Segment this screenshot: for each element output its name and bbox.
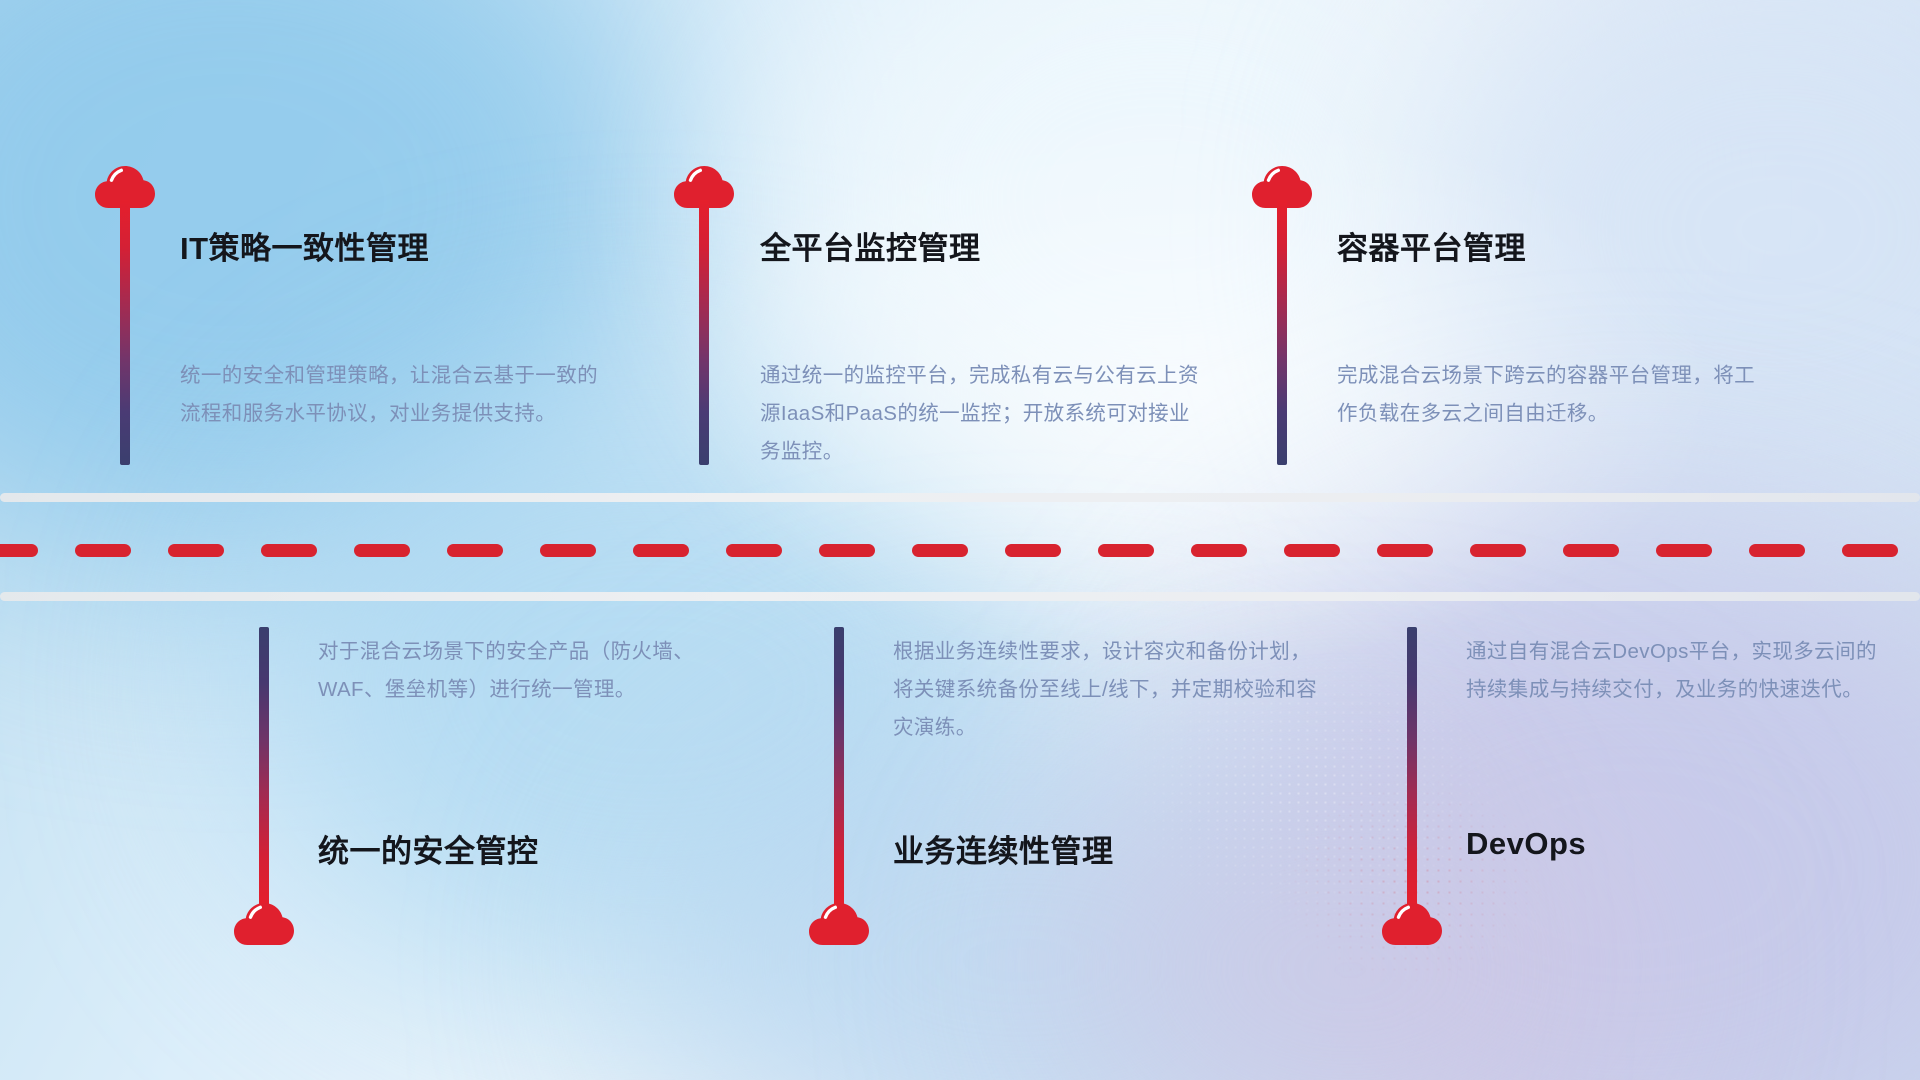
bottom-column-title: 业务连续性管理 — [893, 826, 1114, 871]
divider-dash — [0, 544, 38, 557]
bottom-column-title: 统一的安全管控 — [318, 826, 539, 871]
divider-dash — [1656, 544, 1712, 557]
background-dot-texture-red — [1180, 700, 1600, 1030]
divider-dash — [1749, 544, 1805, 557]
cloud-icon — [1381, 900, 1443, 946]
cloud-icon — [233, 900, 295, 946]
divider-dash — [1470, 544, 1526, 557]
bottom-column-body: 通过自有混合云DevOps平台，实现多云间的持续集成与持续交付，及业务的快速迭代… — [1466, 633, 1896, 709]
timeline-stem — [259, 627, 269, 907]
divider-dash — [1005, 544, 1061, 557]
divider-rule-bottom — [0, 592, 1920, 601]
timeline-stem — [1277, 200, 1287, 465]
divider-dash — [726, 544, 782, 557]
divider-dash — [1842, 544, 1898, 557]
timeline-stem — [834, 627, 844, 907]
divider-dash — [1377, 544, 1433, 557]
bottom-column-body: 根据业务连续性要求，设计容灾和备份计划，将关键系统备份至线上/线下，并定期校验和… — [893, 633, 1323, 747]
timeline-stem — [699, 200, 709, 465]
top-column-body: 完成混合云场景下跨云的容器平台管理，将工作负载在多云之间自由迁移。 — [1337, 357, 1767, 433]
divider-dash — [819, 544, 875, 557]
divider-dash — [1284, 544, 1340, 557]
divider-dash — [633, 544, 689, 557]
top-column-body: 通过统一的监控平台，完成私有云与公有云上资源IaaS和PaaS的统一监控；开放系… — [760, 357, 1200, 471]
divider-dash — [447, 544, 503, 557]
divider-dash — [168, 544, 224, 557]
top-column-body: 统一的安全和管理策略，让混合云基于一致的流程和服务水平协议，对业务提供支持。 — [180, 357, 610, 433]
divider-dash — [261, 544, 317, 557]
divider-dash — [1191, 544, 1247, 557]
top-column-title: 全平台监控管理 — [760, 223, 981, 268]
divider-rule-dashed — [0, 544, 1920, 557]
bottom-column-title: DevOps — [1466, 826, 1586, 862]
divider-dash — [1098, 544, 1154, 557]
divider-dash — [912, 544, 968, 557]
top-column-title: 容器平台管理 — [1337, 223, 1526, 268]
divider-dash — [540, 544, 596, 557]
cloud-icon — [808, 900, 870, 946]
top-column-title: IT策略一致性管理 — [180, 223, 429, 268]
divider-dash — [1563, 544, 1619, 557]
timeline-stem — [1407, 627, 1417, 907]
divider-dash — [354, 544, 410, 557]
divider-dash — [75, 544, 131, 557]
divider-rule-top — [0, 493, 1920, 502]
timeline-stem — [120, 200, 130, 465]
bottom-column-body: 对于混合云场景下的安全产品（防火墙、WAF、堡垒机等）进行统一管理。 — [318, 633, 748, 709]
